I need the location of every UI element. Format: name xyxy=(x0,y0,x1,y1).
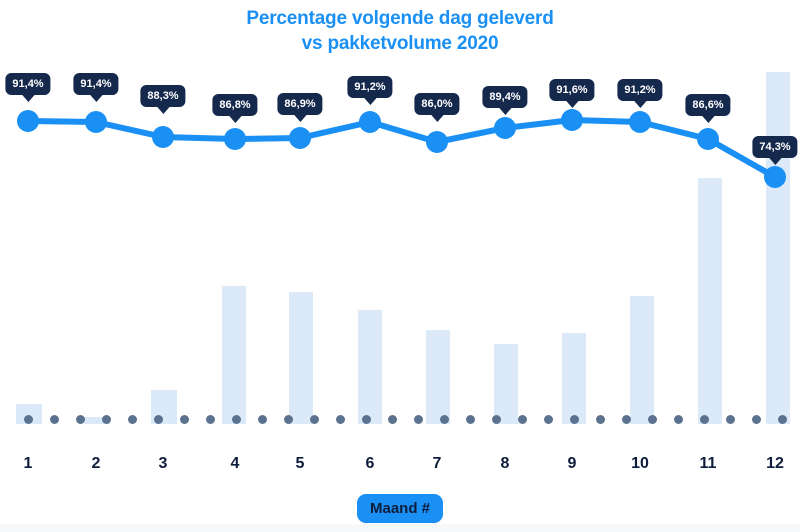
bottom-strip xyxy=(0,524,800,532)
x-tick-5: 5 xyxy=(296,455,305,473)
x-tick-12: 12 xyxy=(766,455,784,473)
x-tick-11: 11 xyxy=(700,455,717,473)
x-tick-9: 9 xyxy=(568,455,577,473)
x-tick-4: 4 xyxy=(231,455,240,473)
x-tick-6: 6 xyxy=(366,455,375,473)
line-marker-month-7[interactable] xyxy=(426,131,448,153)
data-label-month-3: 88,3% xyxy=(140,85,185,107)
x-tick-1: 1 xyxy=(24,455,33,473)
x-tick-3: 3 xyxy=(159,455,168,473)
line-marker-month-10[interactable] xyxy=(629,111,651,133)
line-marker-month-3[interactable] xyxy=(152,126,174,148)
plot-area: 91,4%91,4%88,3%86,8%86,9%91,2%86,0%89,4%… xyxy=(0,0,800,440)
data-label-month-12: 74,3% xyxy=(752,136,797,158)
data-label-month-4: 86,8% xyxy=(212,94,257,116)
line-marker-month-2[interactable] xyxy=(85,111,107,133)
x-tick-7: 7 xyxy=(433,455,442,473)
chart-canvas: Percentage volgende dag geleverd vs pakk… xyxy=(0,0,800,532)
data-label-month-5: 86,9% xyxy=(277,93,322,115)
data-label-month-1: 91,4% xyxy=(5,73,50,95)
line-marker-month-8[interactable] xyxy=(494,117,516,139)
data-label-month-7: 86,0% xyxy=(414,93,459,115)
x-tick-2: 2 xyxy=(92,455,101,473)
data-label-month-10: 91,2% xyxy=(617,79,662,101)
line-marker-month-9[interactable] xyxy=(561,109,583,131)
x-axis-title-badge: Maand # xyxy=(357,494,443,523)
data-label-month-11: 86,6% xyxy=(685,94,730,116)
line-marker-month-5[interactable] xyxy=(289,127,311,149)
x-tick-8: 8 xyxy=(501,455,510,473)
line-series-percentage xyxy=(0,0,800,440)
data-label-month-8: 89,4% xyxy=(482,86,527,108)
data-label-month-9: 91,6% xyxy=(549,79,594,101)
line-marker-month-12[interactable] xyxy=(764,166,786,188)
line-marker-month-11[interactable] xyxy=(697,128,719,150)
line-marker-month-4[interactable] xyxy=(224,128,246,150)
line-marker-month-6[interactable] xyxy=(359,111,381,133)
line-marker-month-1[interactable] xyxy=(17,110,39,132)
x-tick-10: 10 xyxy=(631,455,649,473)
data-label-month-6: 91,2% xyxy=(347,76,392,98)
data-label-month-2: 91,4% xyxy=(73,73,118,95)
line-path xyxy=(28,120,775,177)
